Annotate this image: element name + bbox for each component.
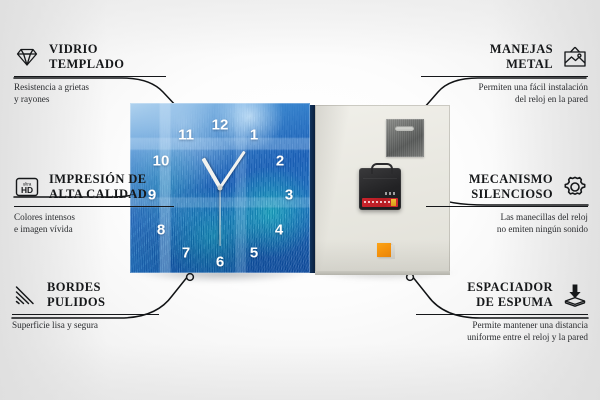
diamond-icon [14, 44, 40, 70]
feature-title: IMPRESIÓN DE ALTA CALIDAD [49, 172, 147, 201]
metal-hanger-plate [386, 119, 424, 157]
feature-description: Resistencia a grietas y rayones [14, 82, 174, 105]
feature-vidrio-templado: VIDRIO TEMPLADO Resistencia a grietas y … [14, 42, 174, 105]
mechanism-label-sticker [391, 199, 396, 206]
beveled-edge-icon [12, 282, 38, 308]
infographic-canvas: 12 1 2 3 4 5 6 7 8 9 10 11 [0, 0, 600, 400]
feature-description: Permiten una fácil instalación del reloj… [413, 82, 588, 105]
feature-title: BORDES PULIDOS [47, 280, 105, 309]
feature-rule [416, 314, 588, 315]
mechanism-loop [371, 163, 393, 174]
feature-bordes-pulidos: BORDES PULIDOS Superficie lisa y segura [12, 280, 167, 332]
feature-rule [14, 206, 174, 207]
feature-title: MECANISMO SILENCIOSO [469, 172, 553, 201]
ultra-hd-icon: ultra HD [14, 174, 40, 200]
hanger-grain [386, 119, 424, 157]
feature-rule [421, 76, 588, 77]
mechanism-red-label [362, 198, 398, 207]
foam-spacer-square [377, 243, 391, 257]
feature-espaciador-espuma: ESPACIADOR DE ESPUMA Permite mantener un… [408, 280, 588, 343]
feature-impresion-alta-calidad: ultra HD IMPRESIÓN DE ALTA CALIDAD Color… [14, 172, 182, 235]
feature-description: Permite mantener una distancia uniforme … [408, 320, 588, 343]
feature-heading-row: VIDRIO TEMPLADO [14, 42, 174, 71]
feature-heading-row: ESPACIADOR DE ESPUMA [408, 280, 588, 309]
feature-title: VIDRIO TEMPLADO [49, 42, 124, 71]
feature-description: Las manecillas del reloj no emiten ningú… [418, 212, 588, 235]
foam-spacer-side [391, 245, 395, 259]
back-panel-bottom-edge [315, 271, 450, 275]
glass-side-edge [310, 105, 315, 273]
mechanism-groove [363, 178, 397, 179]
feature-rule [426, 206, 588, 207]
picture-frame-icon [562, 44, 588, 70]
feature-heading-row: MANEJAS METAL [413, 42, 588, 71]
feature-heading-row: BORDES PULIDOS [12, 280, 167, 309]
mechanism-label-text [364, 201, 390, 203]
feature-mecanismo-silencioso: MECANISMO SILENCIOSO Las manecillas del … [418, 172, 588, 235]
feature-title: ESPACIADOR DE ESPUMA [467, 280, 553, 309]
clock-mechanism-box [359, 168, 401, 210]
feature-manejas-metal: MANEJAS METAL Permiten una fácil instala… [413, 42, 588, 105]
gear-icon [562, 174, 588, 200]
mechanism-dots [385, 192, 397, 195]
feature-description: Superficie lisa y segura [12, 320, 167, 331]
feature-heading-row: MECANISMO SILENCIOSO [418, 172, 588, 201]
feature-rule [14, 76, 166, 77]
feature-description: Colores intensos e imagen vívida [14, 212, 182, 235]
hanger-slot [395, 126, 414, 131]
foam-spacer-icon [562, 282, 588, 308]
feature-heading-row: ultra HD IMPRESIÓN DE ALTA CALIDAD [14, 172, 182, 201]
svg-text:HD: HD [21, 185, 33, 195]
feature-title: MANEJAS METAL [490, 42, 553, 71]
feature-rule [12, 314, 159, 315]
